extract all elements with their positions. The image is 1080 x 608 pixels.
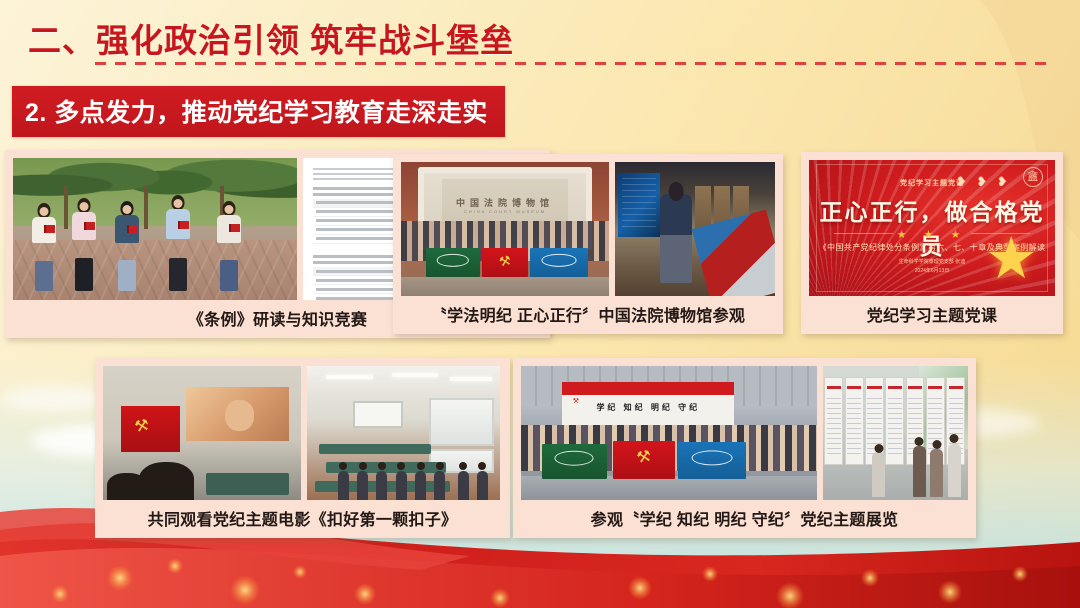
photo-exhibition-corridor	[823, 366, 968, 500]
college-flag-blue	[530, 248, 588, 277]
card-court-museum-visit[interactable]: 中国法院博物馆 CHINA COURT MUSEUM ⚒	[393, 154, 783, 334]
exhibition-banner-text: 学纪 知纪 明纪 守纪	[562, 402, 734, 413]
college-flag-green	[542, 444, 607, 479]
photo-exhibition-group-photo: ⚒ 学纪 知纪 明纪 守纪 ⚒	[521, 366, 817, 500]
party-flag: ⚒	[482, 248, 528, 277]
card-caption: 共同观看党纪主题电影《扣好第一颗扣子》	[95, 500, 510, 538]
card-discipline-exhibition[interactable]: ⚒ 学纪 知纪 明纪 守纪 ⚒	[513, 358, 976, 538]
red-star-icon: ★	[982, 230, 1040, 288]
projection-screen	[186, 387, 289, 441]
card-party-lecture[interactable]: 盦 ❥ ❥ ❥ 党纪学习主题党课 正心正行，做合格党员 ★ ★ ★ 《中国共产党…	[801, 152, 1063, 334]
museum-sign-en: CHINA COURT MUSEUM	[418, 209, 593, 214]
photo-group: ⚒ 学纪 知纪 明纪 守纪 ⚒	[521, 366, 968, 500]
photo-classroom-audience	[307, 366, 500, 500]
college-flag-blue	[678, 442, 746, 478]
photo-film-projection: ⚒	[103, 366, 301, 500]
cloud-shape	[0, 386, 110, 412]
photo-museum-group-flags: 中国法院博物馆 CHINA COURT MUSEUM ⚒	[401, 162, 609, 296]
party-flag: ⚒	[121, 406, 180, 452]
photo-campus-students-reading	[13, 158, 297, 300]
section-title-banner: 2. 多点发力，推动党纪学习教育走深走实	[12, 86, 505, 137]
card-caption: 〝学法明纪 正心正行〞中国法院博物馆参观	[393, 296, 783, 334]
college-flag-green	[426, 248, 480, 277]
card-film-screening[interactable]: ⚒	[95, 358, 510, 538]
museum-sign-cn: 中国法院博物馆	[418, 196, 593, 209]
dashed-divider	[95, 62, 1050, 65]
photo-group: 中国法院博物馆 CHINA COURT MUSEUM ⚒	[401, 162, 775, 296]
card-caption: 参观〝学纪 知纪 明纪 守纪〞党纪主题展览	[513, 500, 976, 538]
photo-group: 盦 ❥ ❥ ❥ 党纪学习主题党课 正心正行，做合格党员 ★ ★ ★ 《中国共产党…	[809, 160, 1055, 296]
page-title: 二、强化政治引领 筑牢战斗堡垒	[28, 14, 514, 62]
photo-group: ⚒	[103, 366, 502, 500]
poster-kicker: 党纪学习主题党课	[809, 178, 1055, 188]
photo-party-lecture-poster: 盦 ❥ ❥ ❥ 党纪学习主题党课 正心正行，做合格党员 ★ ★ ★ 《中国共产党…	[809, 160, 1055, 296]
photo-museum-exhibition-hall	[615, 162, 775, 296]
card-caption: 党纪学习主题党课	[801, 296, 1063, 334]
party-flag: ⚒	[613, 441, 675, 479]
exhibition-banner: ⚒ 学纪 知纪 明纪 守纪	[562, 382, 734, 428]
